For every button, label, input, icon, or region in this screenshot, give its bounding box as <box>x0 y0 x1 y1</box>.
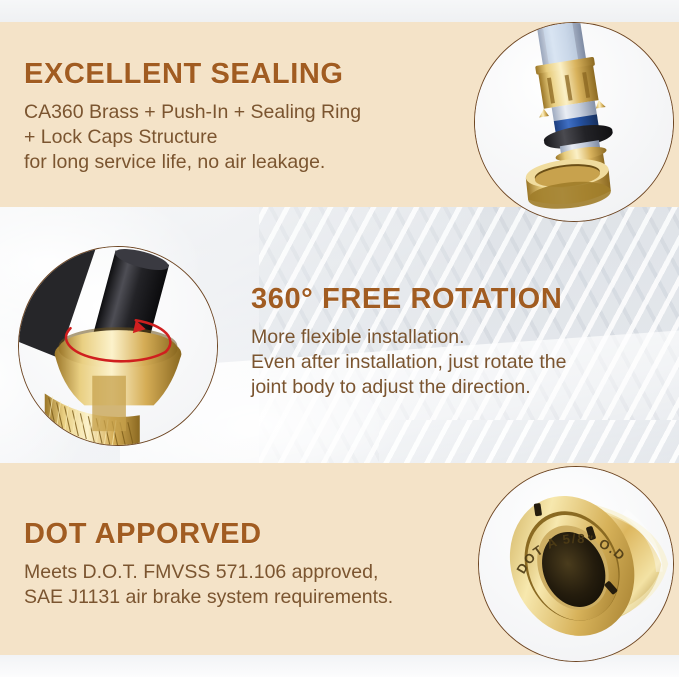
rotation-body-3: joint body to adjust the direction. <box>251 375 566 400</box>
product-photo-sealing <box>474 22 674 222</box>
sealing-body-2: + Lock Caps Structure <box>24 125 361 150</box>
rotation-body-2: Even after installation, just rotate the <box>251 350 566 375</box>
sealing-body-3: for long service life, no air leakage. <box>24 150 361 175</box>
infographic-page: EXCELLENT SEALING CA360 Brass + Push-In … <box>0 0 679 677</box>
top-edge-band <box>0 0 679 24</box>
sealing-body-1: CA360 Brass + Push-In + Sealing Ring <box>24 100 361 125</box>
dot-text-block: DOT APPORVED Meets D.O.T. FMVSS 571.106 … <box>24 518 393 610</box>
dot-body-1: Meets D.O.T. FMVSS 571.106 approved, <box>24 560 393 585</box>
sealing-illustration <box>475 23 673 221</box>
dot-illustration: DOT A 5/8" O.D <box>479 467 673 661</box>
rotation-heading: 360° FREE ROTATION <box>251 283 566 316</box>
sealing-text-block: EXCELLENT SEALING CA360 Brass + Push-In … <box>24 58 361 175</box>
dot-body-2: SAE J1131 air brake system requirements. <box>24 585 393 610</box>
product-photo-dot: DOT A 5/8" O.D <box>478 466 674 662</box>
product-photo-rotation: 360° <box>18 246 218 446</box>
rotation-body-1: More flexible installation. <box>251 325 566 350</box>
dot-heading: DOT APPORVED <box>24 518 393 551</box>
sealing-heading: EXCELLENT SEALING <box>24 58 361 91</box>
rotation-illustration <box>19 247 217 445</box>
rotation-text-block: 360° FREE ROTATION More flexible install… <box>251 283 566 400</box>
